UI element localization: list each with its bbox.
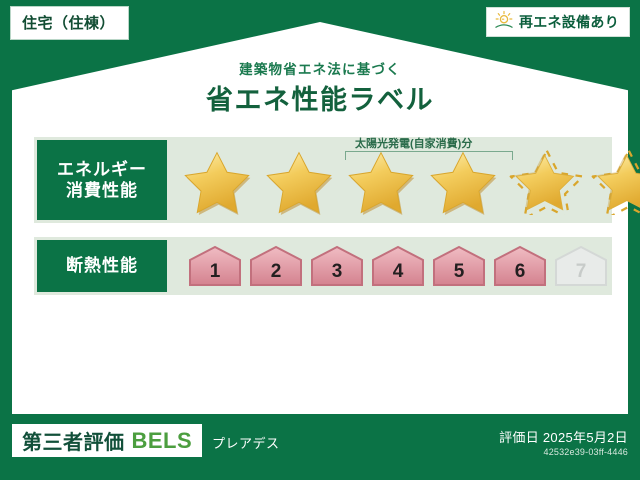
- owner-name: プレアデス: [212, 433, 280, 452]
- insulation-grade-value: 6: [515, 261, 526, 283]
- building-type-tag: 住宅（住棟）: [10, 6, 129, 40]
- insulation-performance-label: 断熱性能: [37, 240, 167, 292]
- insulation-grade-strip: 1 2 3: [167, 237, 612, 295]
- star-icon: [343, 147, 423, 215]
- solar-sun-icon: [493, 10, 515, 35]
- label-body-panel: エネルギー 消費性能 太陽光発電(自家消費)分: [12, 120, 628, 414]
- insulation-grade-item: 1: [187, 244, 243, 288]
- insulation-grade-value: 2: [271, 261, 282, 283]
- insulation-grade-item: 6: [492, 244, 548, 288]
- third-party-eval-label: 第三者評価: [22, 426, 125, 455]
- evaluation-id: 42532e39-03ff-4446: [543, 447, 628, 457]
- insulation-grade-value: 3: [332, 261, 343, 283]
- star-icon: [179, 147, 259, 215]
- insulation-grade-value: 1: [210, 261, 221, 283]
- energy-performance-row: エネルギー 消費性能 太陽光発電(自家消費)分: [34, 137, 612, 223]
- renewable-energy-badge: 再エネ設備あり: [486, 7, 630, 37]
- star-icon-solar-dashed: [507, 147, 587, 215]
- energy-performance-label: エネルギー 消費性能: [37, 140, 167, 220]
- insulation-grade-value: 7: [576, 261, 587, 283]
- renewable-energy-badge-label: 再エネ設備あり: [519, 12, 619, 32]
- insulation-performance-row: 断熱性能 1: [34, 237, 612, 295]
- bels-certification-box: 第三者評価 BELS: [12, 424, 202, 457]
- star-strip: [179, 147, 640, 215]
- insulation-grade-item: 2: [248, 244, 304, 288]
- star-rating-area: 太陽光発電(自家消費)分: [167, 137, 612, 223]
- insulation-grade-item: 5: [431, 244, 487, 288]
- energy-label-line2: 消費性能: [57, 180, 147, 201]
- insulation-grade-value: 4: [393, 261, 404, 283]
- insulation-grade-item: 3: [309, 244, 365, 288]
- insulation-grade-item-inactive: 7: [553, 244, 609, 288]
- insulation-grade-item: 4: [370, 244, 426, 288]
- energy-performance-label: 住宅（住棟） 再エネ設備あり 建築物省エネ法に基づく 省エネ性能ラベル: [0, 0, 640, 480]
- bels-logo-text: BELS: [132, 428, 193, 454]
- insulation-grade-value: 5: [454, 261, 465, 283]
- evaluation-date: 評価日 2025年5月2日: [499, 427, 628, 446]
- star-icon: [425, 147, 505, 215]
- label-subtitle: 建築物省エネ法に基づく: [0, 58, 640, 78]
- label-title: 省エネ性能ラベル: [0, 78, 640, 117]
- star-icon: [261, 147, 341, 215]
- star-icon-solar-dashed: [589, 147, 640, 215]
- energy-label-line1: エネルギー: [57, 159, 147, 180]
- footer-band: 第三者評価 BELS プレアデス 評価日 2025年5月2日 42532e39-…: [0, 414, 640, 480]
